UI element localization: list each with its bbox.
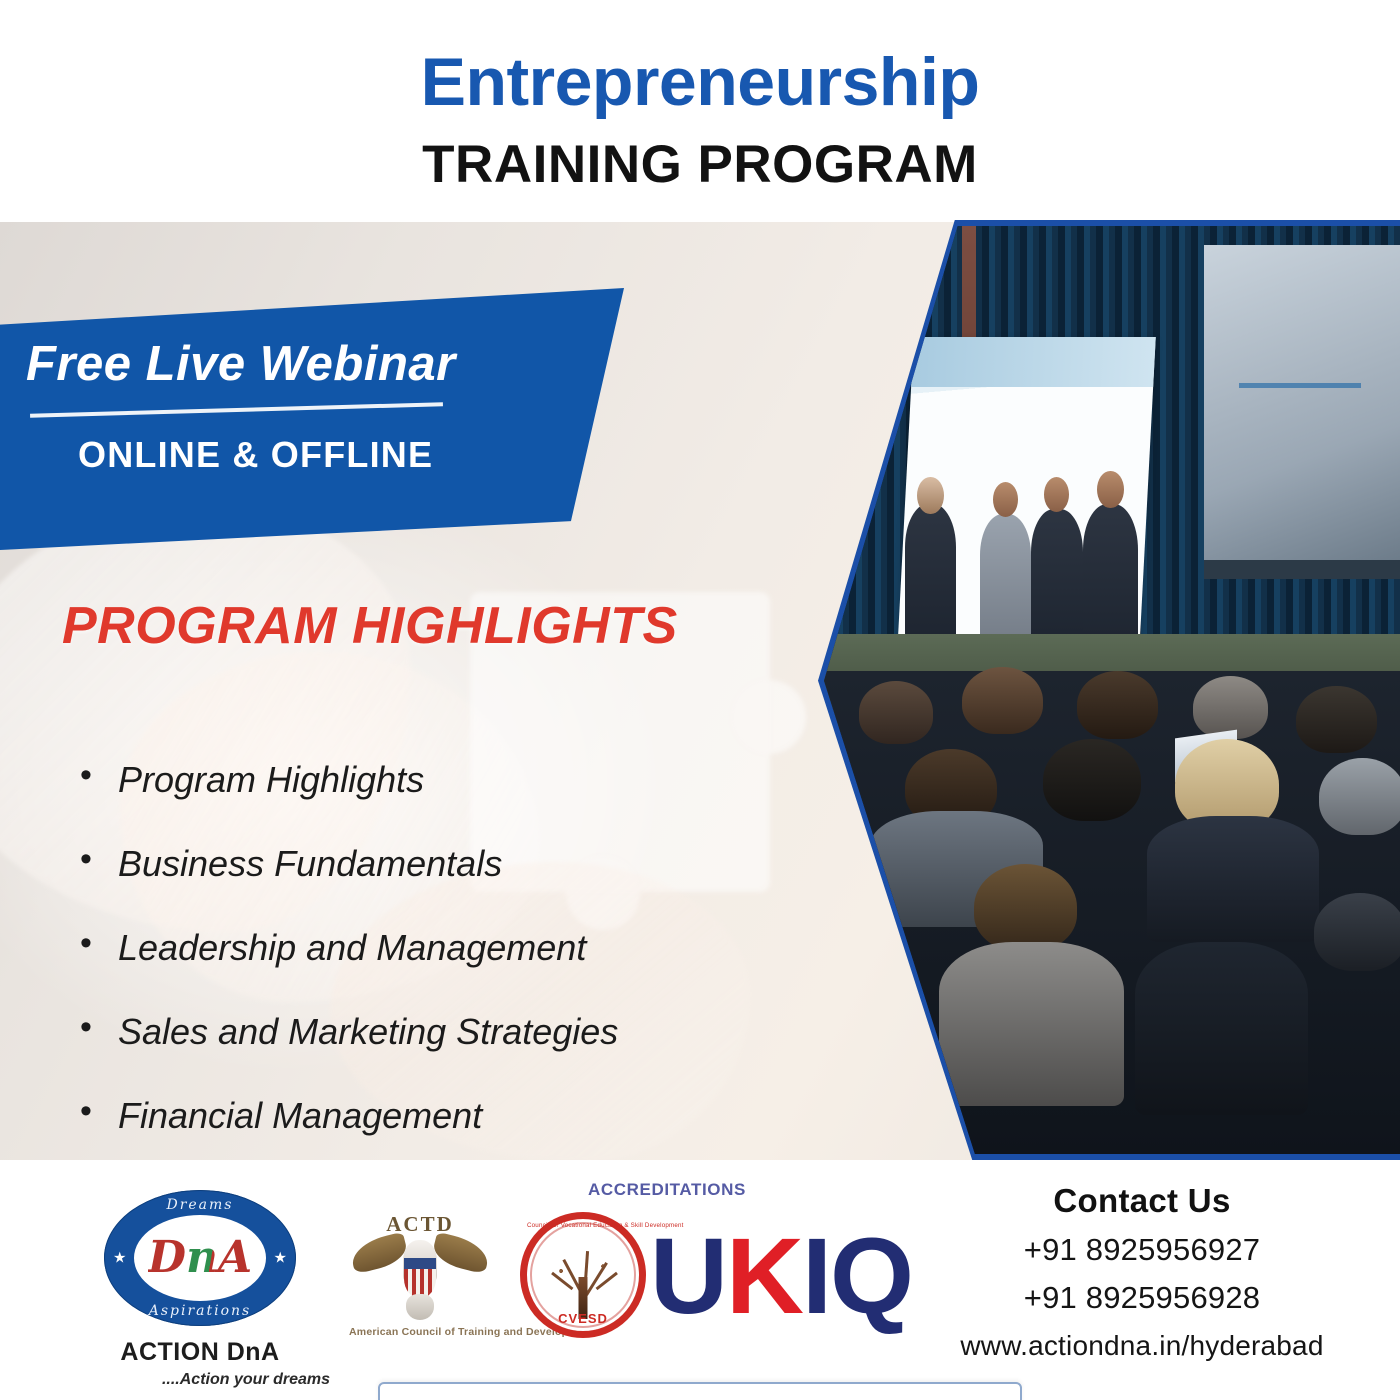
list-item: Program Highlights xyxy=(80,762,800,798)
ukiq-letter-q: Q xyxy=(830,1215,912,1336)
ukiq-letter-i: I xyxy=(802,1215,830,1336)
eagle-wing-right-icon xyxy=(430,1232,492,1275)
webinar-banner-content: Free Live Webinar ONLINE & OFFLINE xyxy=(26,340,566,473)
audience-head xyxy=(1043,739,1141,821)
ukiq-letter-u: U xyxy=(650,1215,726,1336)
projection-screen xyxy=(1204,245,1400,561)
poster-footer: Dreams ★ ★ DnA Aspirations ACTION DnA ..… xyxy=(0,1160,1400,1400)
contact-phone-primary[interactable]: +91 8925956927 xyxy=(922,1232,1362,1268)
star-icon: ★ xyxy=(274,1251,287,1266)
contact-section: Contact Us +91 8925956927 +91 8925956928… xyxy=(922,1182,1362,1362)
dna-bottom-text: Aspirations xyxy=(104,1303,296,1319)
cvesd-full-label: Council for Vocational Education & Skill… xyxy=(527,1222,639,1229)
accreditations-label: ACCREDITATIONS xyxy=(588,1180,746,1200)
dna-inner-oval: DnA xyxy=(134,1215,266,1301)
brand-logo: Dreams ★ ★ DnA Aspirations ACTION DnA ..… xyxy=(60,1190,340,1389)
contact-phone-secondary[interactable]: +91 8925956928 xyxy=(922,1280,1362,1316)
list-item: Sales and Marketing Strategies xyxy=(80,1014,800,1050)
audience-body xyxy=(1147,816,1320,941)
cvesd-short-label: CVESD xyxy=(527,1311,639,1326)
ukiq-letter-k: K xyxy=(726,1215,802,1336)
audience-head xyxy=(1296,686,1377,754)
webinar-banner: Free Live Webinar ONLINE & OFFLINE xyxy=(0,288,624,550)
webinar-banner-divider xyxy=(30,402,443,418)
dna-top-text: Dreams xyxy=(104,1197,296,1213)
actd-short-label: ACTD xyxy=(345,1212,495,1237)
audience-head xyxy=(974,864,1078,951)
audience-body xyxy=(1135,942,1308,1116)
poster-header: Entrepreneurship TRAINING PROGRAM xyxy=(0,0,1400,222)
eagle-wing-left-icon xyxy=(348,1232,410,1275)
brand-name: ACTION DnA xyxy=(60,1338,340,1367)
audience-head xyxy=(859,681,934,744)
contact-website[interactable]: www.actiondna.in/hyderabad xyxy=(922,1330,1362,1362)
webinar-banner-subtitle: ONLINE & OFFLINE xyxy=(78,437,566,473)
cvesd-logo: Council for Vocational Education & Skill… xyxy=(520,1212,646,1338)
list-item: Financial Management xyxy=(80,1098,800,1134)
star-icon: ★ xyxy=(113,1251,126,1266)
audience-head xyxy=(1314,893,1400,970)
bottom-cutoff-box xyxy=(378,1382,1022,1400)
dna-monogram: DnA xyxy=(148,1236,252,1280)
dna-oval-badge: Dreams ★ ★ DnA Aspirations xyxy=(104,1190,296,1326)
actd-arc-text: American Council of Training and Develop… xyxy=(349,1274,491,1338)
audience-head xyxy=(1077,671,1158,739)
page-subtitle: TRAINING PROGRAM xyxy=(422,138,978,191)
ukiq-logo: UKIQ xyxy=(650,1222,912,1330)
brand-tagline: ....Action your dreams xyxy=(60,1371,340,1389)
program-highlights-heading: PROGRAM HIGHLIGHTS xyxy=(62,600,800,652)
list-item: Business Fundamentals xyxy=(80,846,800,882)
list-item: Leadership and Management xyxy=(80,930,800,966)
panelist-head xyxy=(1097,471,1123,508)
audience-head xyxy=(1319,758,1400,835)
actd-logo: ACTD American Council of Training and De… xyxy=(345,1212,495,1338)
webinar-banner-title: Free Live Webinar xyxy=(26,340,566,389)
contact-heading: Contact Us xyxy=(922,1182,1362,1220)
panelist-head xyxy=(917,477,943,514)
actd-full-label: American Council of Training and Develop… xyxy=(349,1326,491,1338)
page-title: Entrepreneurship xyxy=(421,48,980,116)
program-highlights-list: Program Highlights Business Fundamentals… xyxy=(80,762,800,1134)
audience-head xyxy=(962,667,1043,735)
audience-body xyxy=(939,942,1123,1106)
panelist-head xyxy=(1044,477,1069,512)
program-highlights-section: PROGRAM HIGHLIGHTS Program Highlights Bu… xyxy=(0,600,800,1182)
tree-branch-icon xyxy=(585,1262,608,1296)
poster-canvas: Entrepreneurship TRAINING PROGRAM Free L… xyxy=(0,0,1400,1400)
